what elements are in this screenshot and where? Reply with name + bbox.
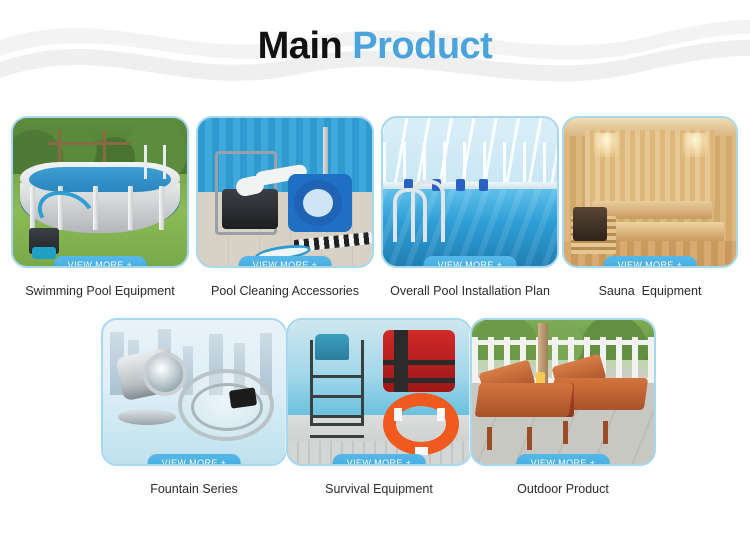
page-title-part2: Product	[352, 25, 492, 67]
page-title: Main Product	[0, 22, 750, 70]
product-thumbnail[interactable]: VIEW MORE +	[196, 116, 374, 268]
product-thumbnail[interactable]: VIEW MORE +	[286, 318, 472, 466]
view-more-button[interactable]: VIEW MORE +	[54, 256, 147, 268]
page-title-part1: Main	[258, 25, 343, 67]
product-thumbnail[interactable]: VIEW MORE +	[562, 116, 738, 268]
view-more-button[interactable]: VIEW MORE +	[424, 256, 517, 268]
product-caption: Swimming Pool Equipment	[11, 284, 189, 298]
scene-sauna	[564, 118, 736, 266]
scene-survival-equipment	[288, 320, 470, 464]
scene-pool-cleaning	[198, 118, 372, 266]
product-card-overall-pool-installation-plan[interactable]: VIEW MORE + Overall Pool Installation Pl…	[381, 116, 559, 268]
product-card-survival-equipment[interactable]: VIEW MORE + Survival Equipment	[286, 318, 472, 466]
scene-outdoor-loungers	[472, 320, 654, 464]
product-caption: Outdoor Product	[470, 482, 656, 496]
scene-fountain	[103, 320, 285, 464]
view-more-button[interactable]: VIEW MORE +	[517, 454, 610, 466]
product-card-fountain-series[interactable]: VIEW MORE + Fountain Series	[101, 318, 287, 466]
product-card-outdoor-product[interactable]: VIEW MORE + Outdoor Product	[470, 318, 656, 466]
product-card-pool-cleaning-accessories[interactable]: VIEW MORE + Pool Cleaning Accessories	[196, 116, 374, 268]
view-more-button[interactable]: VIEW MORE +	[604, 256, 697, 268]
scene-swimming-pool	[13, 118, 187, 266]
product-thumbnail[interactable]: VIEW MORE +	[381, 116, 559, 268]
product-caption: Pool Cleaning Accessories	[196, 284, 374, 298]
product-caption: Fountain Series	[101, 482, 287, 496]
scene-indoor-pool	[383, 118, 557, 266]
product-thumbnail[interactable]: VIEW MORE +	[470, 318, 656, 466]
product-caption: Survival Equipment	[286, 482, 472, 496]
product-card-swimming-pool-equipment[interactable]: VIEW MORE + Swimming Pool Equipment	[11, 116, 189, 268]
product-thumbnail[interactable]: VIEW MORE +	[101, 318, 287, 466]
section-header: Main Product	[0, 0, 750, 100]
view-more-button[interactable]: VIEW MORE +	[239, 256, 332, 268]
product-caption: Overall Pool Installation Plan	[381, 284, 559, 298]
product-caption: Sauna Equipment	[562, 284, 738, 298]
view-more-button[interactable]: VIEW MORE +	[333, 454, 426, 466]
view-more-button[interactable]: VIEW MORE +	[148, 454, 241, 466]
main-product-section: Main Product	[0, 0, 750, 535]
product-thumbnail[interactable]: VIEW MORE +	[11, 116, 189, 268]
product-card-sauna-equipment[interactable]: VIEW MORE + Sauna Equipment	[562, 116, 738, 268]
